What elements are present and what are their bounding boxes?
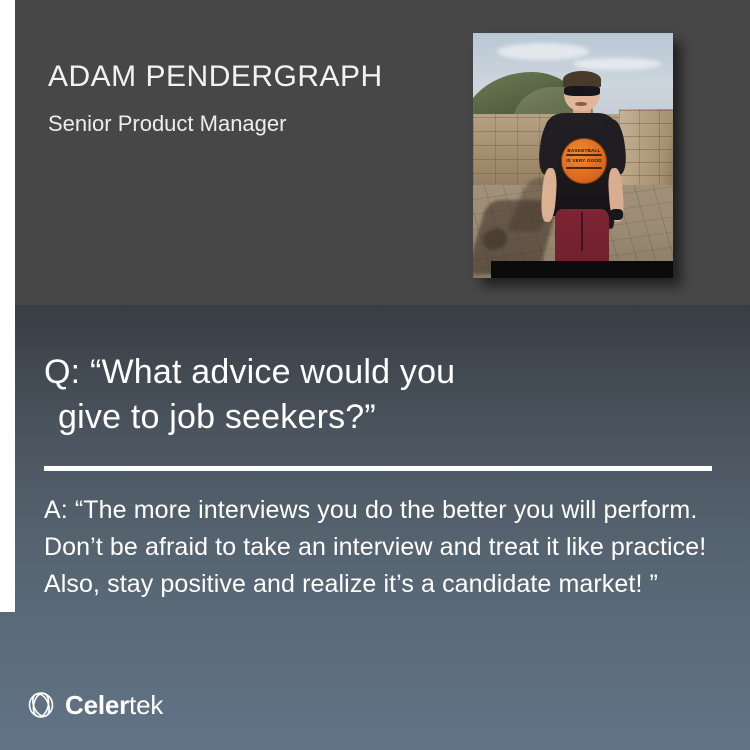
photo-bottom-band (491, 261, 673, 278)
photo-sunglasses (564, 86, 600, 97)
celertek-wordmark: Celertek (65, 692, 163, 718)
photo-shorts-seam (581, 212, 583, 251)
question-text: Q: “What advice would you give to job se… (44, 350, 724, 440)
celertek-logo[interactable]: Celertek (24, 688, 163, 722)
photo-shirt-text-line1: BASKETBALL (562, 148, 606, 153)
header-text-block: ADAM PENDERGRAPH Senior Product Manager (48, 60, 468, 136)
photo-wristwatch (610, 209, 623, 220)
logo-word-light: tek (129, 690, 163, 720)
answer-text: A: “The more interviews you do the bette… (44, 492, 716, 602)
left-white-strip (0, 0, 15, 612)
divider-rule (44, 466, 712, 471)
question-block: Q: “What advice would you give to job se… (44, 350, 724, 440)
photo-basketball-seam (566, 167, 603, 169)
logo-word-bold: Celer (65, 690, 129, 720)
person-name: ADAM PENDERGRAPH (48, 60, 468, 93)
photo-basketball-seam (566, 154, 603, 156)
profile-photo: BASKETBALL IS VERY GOOD (473, 33, 673, 278)
photo-cloud (497, 43, 589, 60)
question-line-1: Q: “What advice would you (44, 353, 455, 391)
person-title: Senior Product Manager (48, 112, 468, 136)
social-quote-slide: ADAM PENDERGRAPH Senior Product Manager (0, 0, 750, 750)
photo-shirt-text-line2: IS VERY GOOD (562, 158, 606, 163)
photo-cloud (573, 58, 661, 70)
question-line-2: give to job seekers?” (44, 395, 724, 440)
celertek-orb-logo-icon (24, 688, 58, 722)
